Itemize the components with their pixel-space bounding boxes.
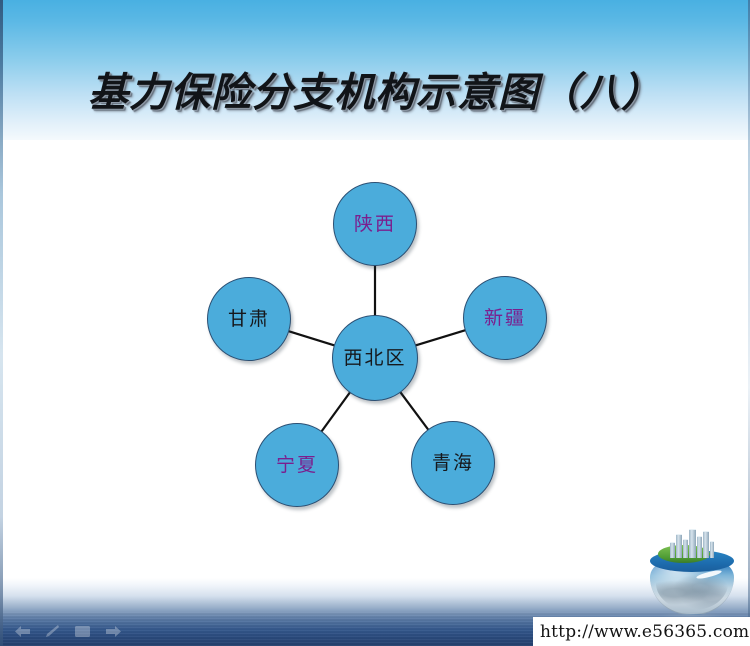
website-url-text: http://www.e56365.com bbox=[540, 622, 749, 642]
diagram-node-shaanxi-label: 陕西 bbox=[354, 215, 396, 234]
slide-menu-button[interactable] bbox=[74, 625, 91, 638]
next-slide-button[interactable] bbox=[105, 625, 122, 638]
rectangle-icon bbox=[74, 625, 91, 638]
website-url-plate: http://www.e56365.com bbox=[533, 617, 750, 646]
diagram-node-center[interactable]: 西北区 bbox=[332, 315, 418, 401]
diagram-node-center-label: 西北区 bbox=[343, 349, 406, 368]
city-skyline-icon bbox=[670, 528, 714, 558]
org-diagram: 西北区 陕西 甘肃 新疆 宁夏 青海 bbox=[0, 0, 750, 646]
diagram-node-qinghai[interactable]: 青海 bbox=[411, 421, 495, 505]
diagram-node-gansu-label: 甘肃 bbox=[228, 310, 270, 329]
right-arrow-icon bbox=[105, 625, 122, 638]
previous-slide-button[interactable] bbox=[14, 625, 31, 638]
presentation-slide: 基力保险分支机构示意图（八） 西北区 陕西 甘肃 新疆 宁夏 青海 bbox=[0, 0, 750, 646]
diagram-node-ningxia[interactable]: 宁夏 bbox=[255, 423, 339, 507]
pen-tool-button[interactable] bbox=[45, 624, 60, 638]
diagram-node-ningxia-label: 宁夏 bbox=[276, 456, 318, 475]
diagram-node-gansu[interactable]: 甘肃 bbox=[207, 277, 291, 361]
diagram-node-xinjiang-label: 新疆 bbox=[484, 309, 526, 328]
diagram-node-shaanxi[interactable]: 陕西 bbox=[333, 182, 417, 266]
diagram-node-qinghai-label: 青海 bbox=[432, 454, 474, 473]
diagram-node-xinjiang[interactable]: 新疆 bbox=[463, 276, 547, 360]
globe-city-logo bbox=[644, 528, 740, 620]
slideshow-nav-bar bbox=[14, 624, 122, 638]
left-arrow-icon bbox=[14, 625, 31, 638]
pen-icon bbox=[45, 624, 60, 638]
